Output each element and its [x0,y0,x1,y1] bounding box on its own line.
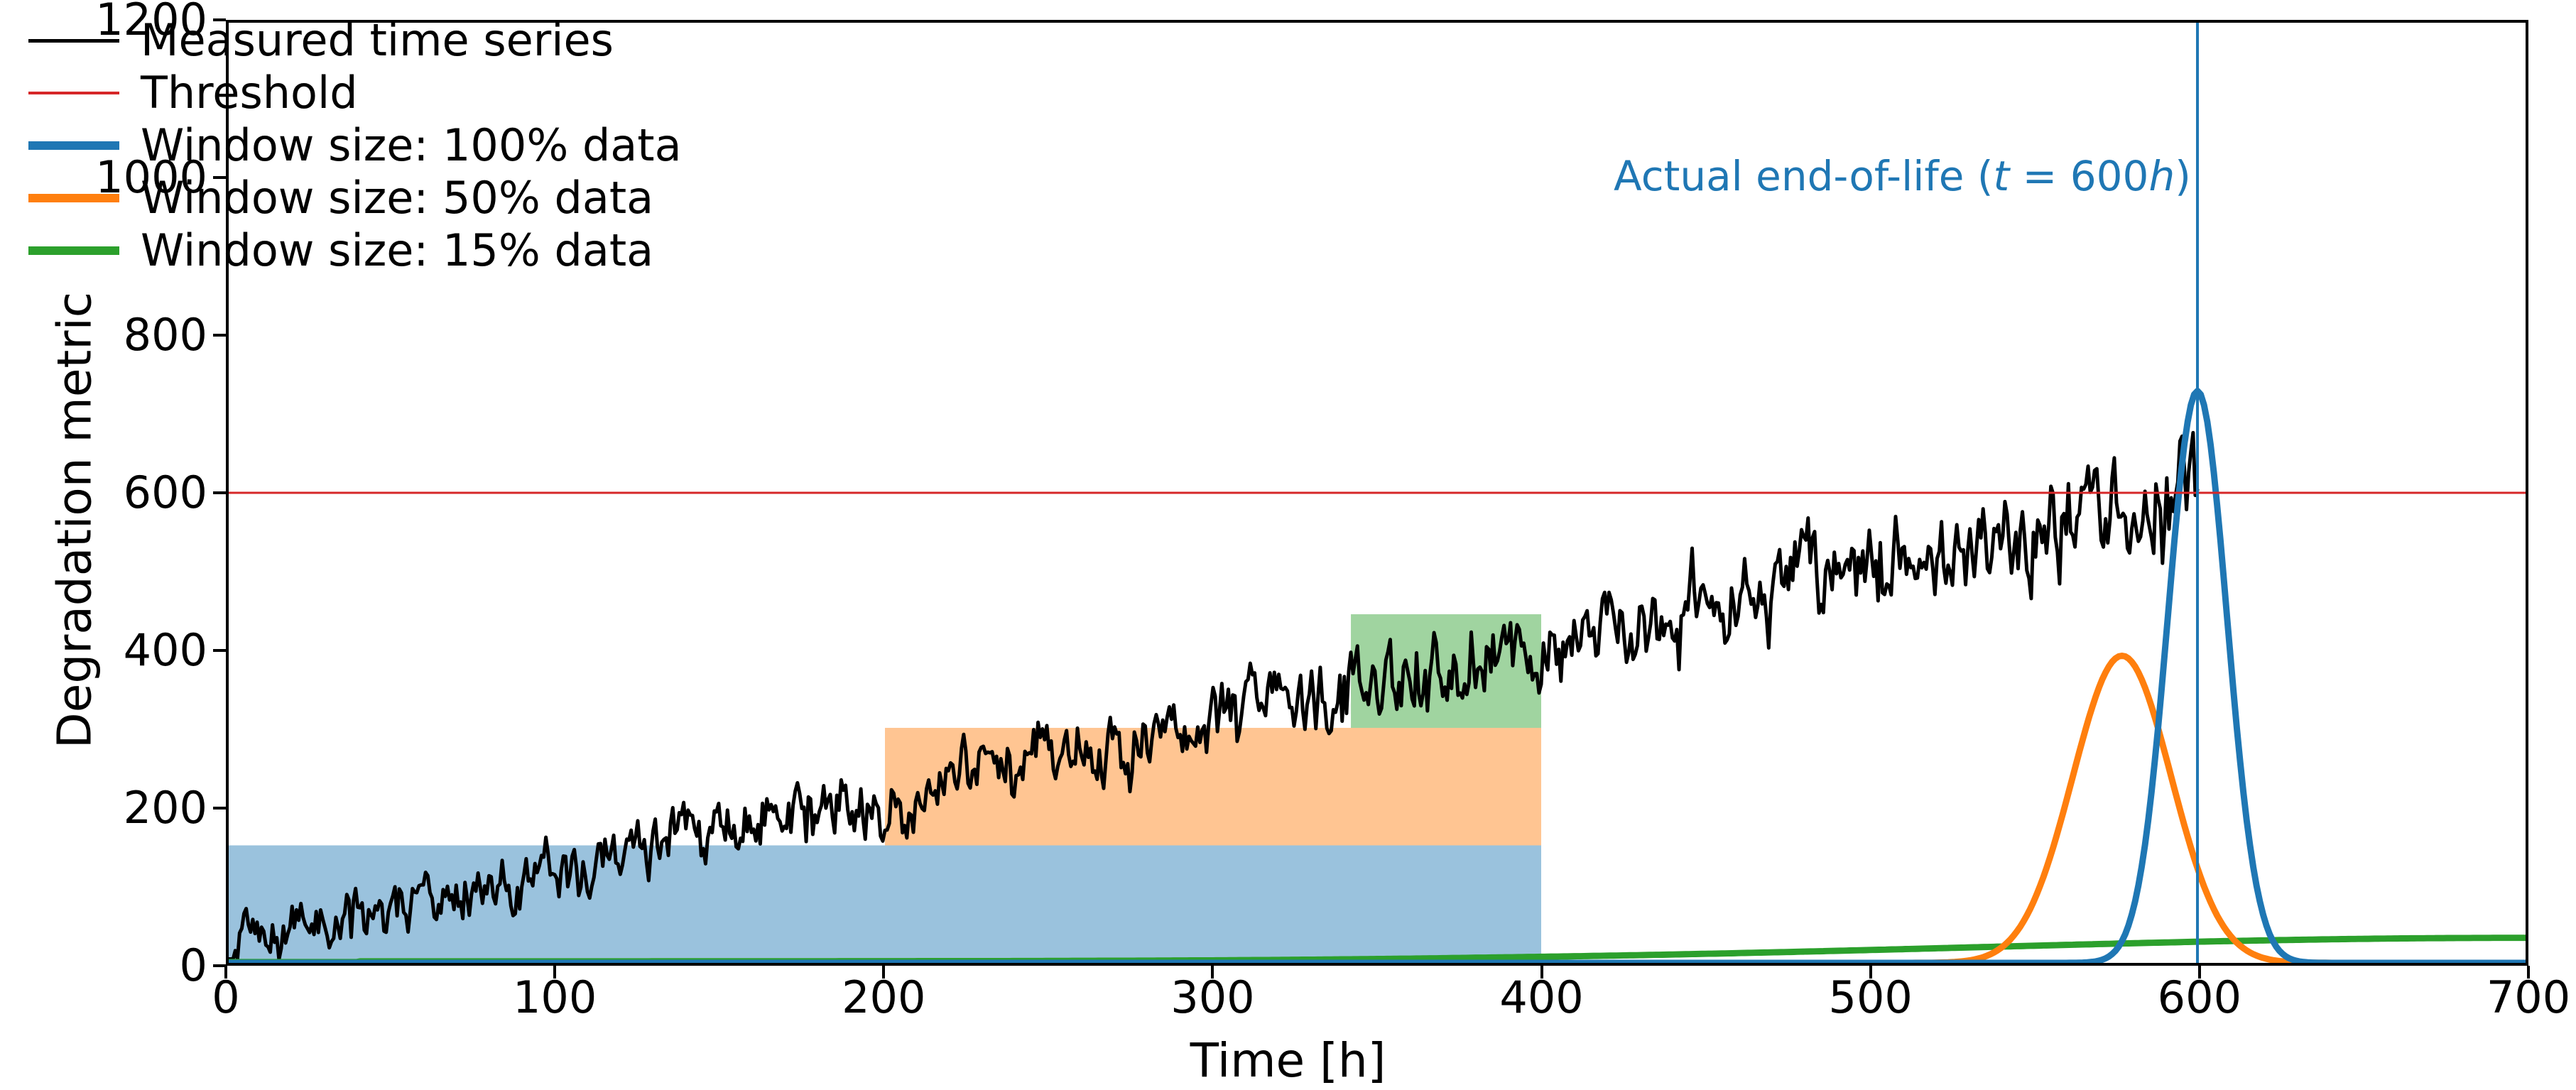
x-tick-mark [2198,966,2201,979]
eol-h-symbol: h [2148,152,2175,200]
legend-color-swatch [28,141,119,150]
x-tick-label: 700 [2487,976,2570,1020]
x-tick-label: 100 [513,976,597,1020]
y-tick-mark [213,491,226,494]
legend-item-label: Measured time series [141,18,614,62]
legend-color-swatch [28,39,119,43]
x-tick-mark [224,966,227,979]
y-tick-label: 800 [124,313,207,357]
legend-color-swatch [28,92,119,94]
x-tick-label: 400 [1499,976,1583,1020]
x-tick-mark [1540,966,1543,979]
x-tick-label: 0 [212,976,239,1020]
actual-end-of-life-annotation: Actual end-of-life (t = 600h) [1614,152,2191,200]
legend-item-label: Window size: 15% data [141,229,653,273]
y-tick-mark [213,334,226,337]
y-tick-label: 400 [124,628,207,672]
legend-item-label: Window size: 100% data [141,124,682,168]
x-tick-label: 600 [2158,976,2241,1020]
y-tick-mark [213,807,226,810]
legend-item-label: Window size: 50% data [141,176,653,220]
x-tick-label: 300 [1170,976,1254,1020]
legend-color-swatch [28,194,119,202]
x-tick-mark [882,966,885,979]
chart-figure: Degradation metric Time [h] 020040060080… [0,0,2576,1090]
legend-item[interactable]: Threshold [28,67,682,119]
legend-item[interactable]: Measured time series [28,14,682,67]
eol-t-symbol: t [1994,152,2010,200]
legend-item-label: Threshold [141,71,358,115]
legend-color-swatch [28,246,119,255]
legend-item[interactable]: Window size: 100% data [28,119,682,172]
x-tick-label: 200 [842,976,925,1020]
y-tick-label: 200 [124,786,207,830]
eol-prefix: Actual end-of-life ( [1614,152,1993,200]
legend-item[interactable]: Window size: 15% data [28,224,682,277]
x-tick-mark [2527,966,2530,979]
y-tick-label: 0 [180,944,207,988]
y-tick-mark [213,649,226,652]
chart-legend: Measured time seriesThresholdWindow size… [28,14,682,277]
eol-suffix: ) [2175,152,2191,200]
x-tick-mark [1869,966,1872,979]
window-100-span [229,846,1541,964]
x-axis-label: Time [h] [0,1033,2576,1088]
x-tick-mark [553,966,556,979]
y-tick-label: 600 [124,471,207,515]
x-tick-mark [1211,966,1214,979]
x-tick-label: 500 [1829,976,1913,1020]
legend-item[interactable]: Window size: 50% data [28,172,682,224]
eol-equals: = 600 [2009,152,2148,200]
